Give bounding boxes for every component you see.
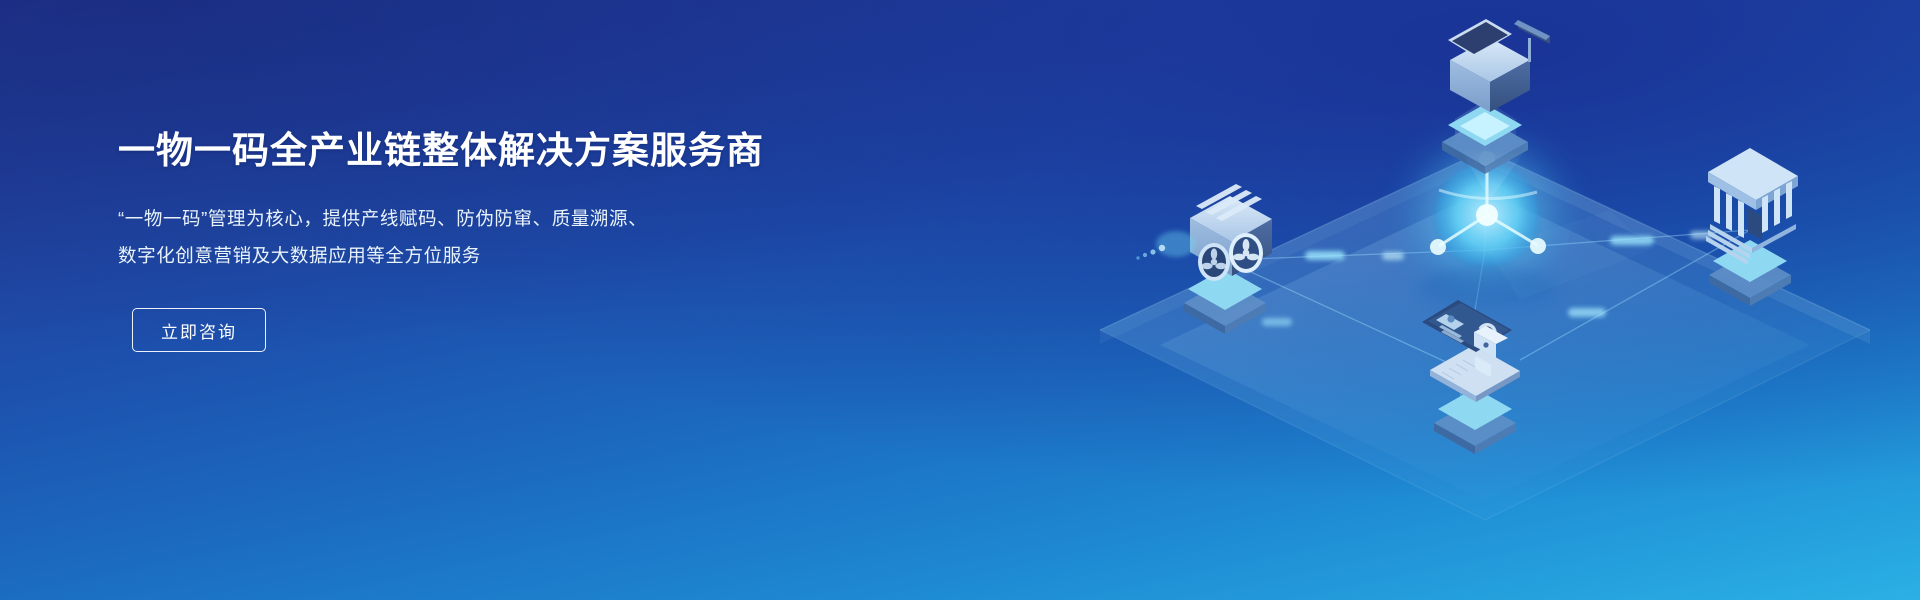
subtitle-line-1: “一物一码”管理为核心，提供产线赋码、防伪防窜、质量溯源、 xyxy=(118,200,878,237)
hero-copy-block: 一物一码全产业链整体解决方案服务商 “一物一码”管理为核心，提供产线赋码、防伪防… xyxy=(118,128,878,352)
subtitle-line-2: 数字化创意营销及大数据应用等全方位服务 xyxy=(118,237,878,274)
page-title: 一物一码全产业链整体解决方案服务商 xyxy=(118,128,878,174)
consult-now-button[interactable]: 立即咨询 xyxy=(132,308,266,352)
hero-illustration xyxy=(1050,0,1920,600)
signal-trail-icon xyxy=(1136,231,1196,260)
hero-banner: 一物一码全产业链整体解决方案服务商 “一物一码”管理为核心，提供产线赋码、防伪防… xyxy=(0,0,1920,600)
bank-building-icon xyxy=(1706,148,1798,306)
